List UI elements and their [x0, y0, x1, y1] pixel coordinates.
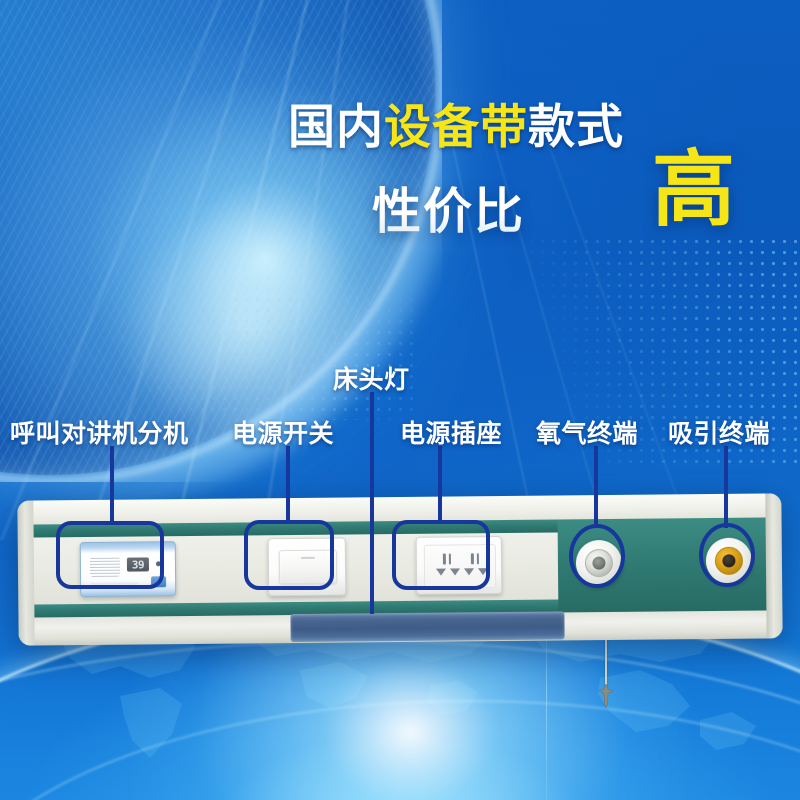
- callout-label-intercom: 呼叫对讲机分机: [10, 414, 189, 450]
- callout-label-power-socket: 电源插座: [400, 414, 502, 450]
- callout-label-suction-terminal: 吸引终端: [668, 414, 770, 450]
- callout-label-oxygen-terminal: 氧气终端: [536, 414, 638, 450]
- callout-labels: 呼叫对讲机分机 电源开关 床头灯 电源插座 氧气终端 吸引终端: [0, 0, 800, 800]
- callout-label-power-switch: 电源开关: [232, 414, 334, 450]
- promo-banner: 国内设备带款式 性价比 高 呼叫对讲机分机 电源开关 床头灯: [0, 0, 800, 800]
- callout-label-bedside-lamp: 床头灯: [333, 360, 410, 396]
